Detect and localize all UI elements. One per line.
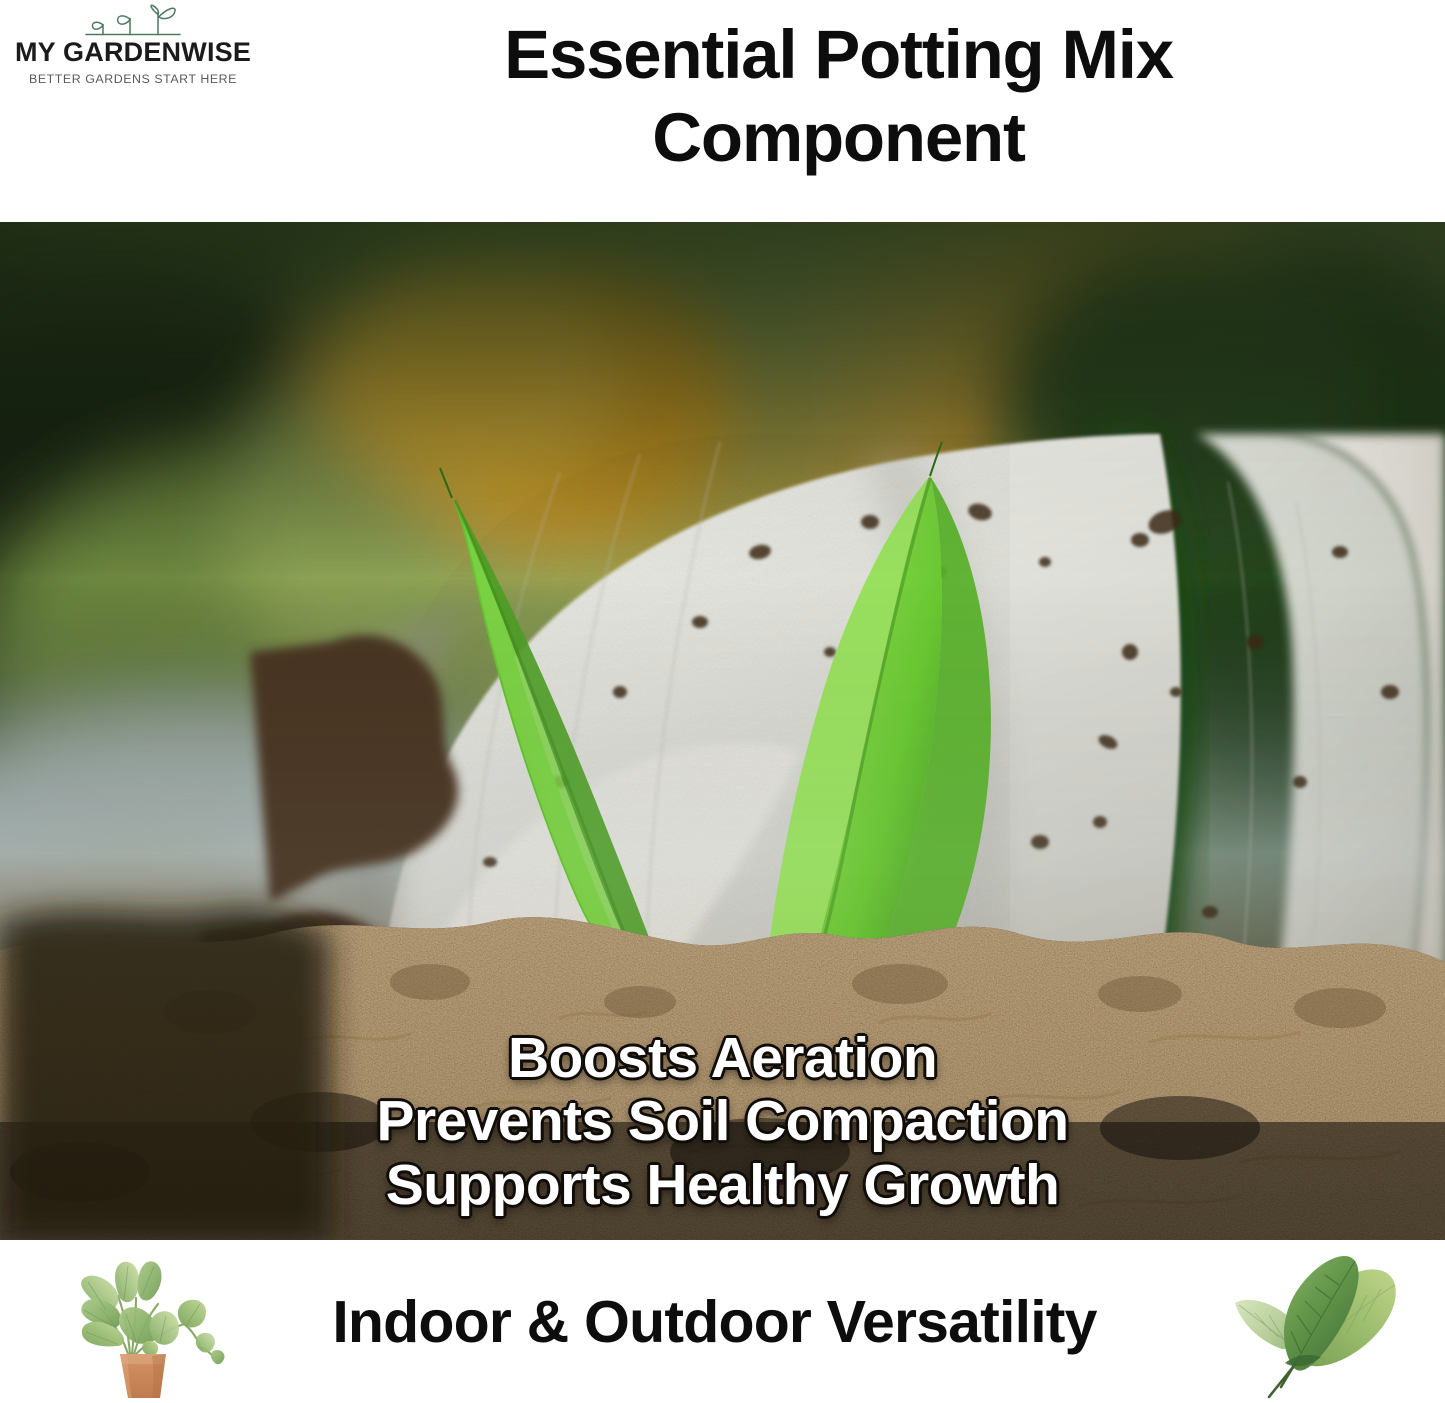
brand-name: MY GARDENWISE bbox=[8, 39, 258, 66]
page-title: Essential Potting Mix Component bbox=[262, 14, 1415, 180]
header-section: MY GARDENWISE BETTER GARDENS START HERE … bbox=[0, 0, 1445, 222]
footer-tagline: Indoor & Outdoor Versatility bbox=[332, 1288, 1096, 1356]
hero-photo: Boosts Aeration Prevents Soil Compaction… bbox=[0, 222, 1445, 1240]
brand-tagline: BETTER GARDENS START HERE bbox=[8, 72, 258, 86]
page-title-line-1: Essential Potting Mix bbox=[262, 14, 1415, 97]
three-sprouts-icon bbox=[8, 4, 258, 38]
page-title-line-2: Component bbox=[262, 97, 1415, 180]
footer-section: Indoor & Outdoor Versatility bbox=[0, 1240, 1445, 1403]
infographic-card: MY GARDENWISE BETTER GARDENS START HERE … bbox=[0, 0, 1445, 1403]
potted-pothos-plant-icon bbox=[62, 1250, 234, 1400]
brand-logo: MY GARDENWISE BETTER GARDENS START HERE bbox=[8, 4, 258, 86]
three-leaves-icon bbox=[1235, 1245, 1410, 1400]
